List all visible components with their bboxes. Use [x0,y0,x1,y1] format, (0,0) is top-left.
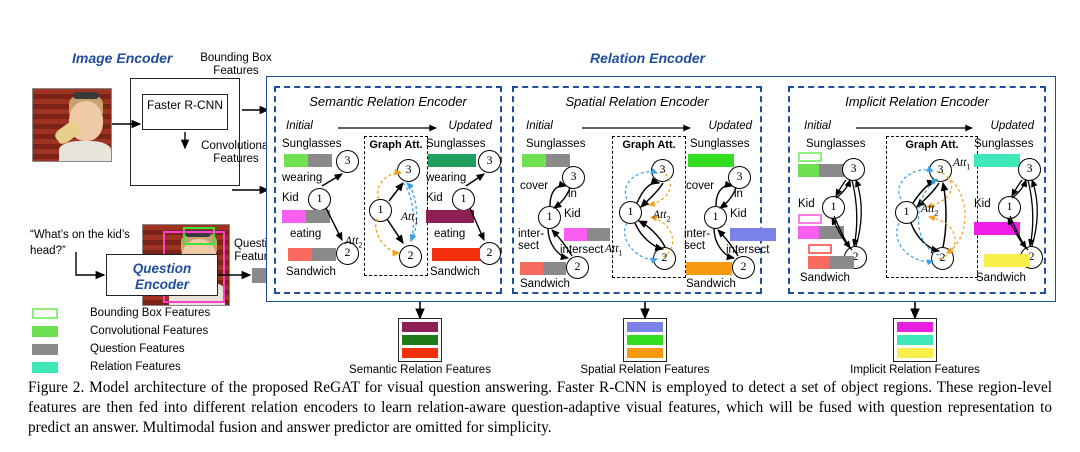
implicit-relation-encoder-panel: Implicit Relation Encoder Initial Update… [788,86,1046,294]
spatial-initial-edges [520,138,612,290]
implicit-output-bar-0 [897,322,933,332]
att2-label: Att2 [921,203,938,217]
semantic-initial-graph: Sunglasses 3 wearing Kid 1 eating 2 Sand… [282,138,366,288]
att1-label: Att1 [605,243,622,257]
implicit-initial-graph: Sunglasses 3 Kid 1 2 Sandwich [796,136,888,290]
implicit-initial-edges [796,136,888,290]
legend-label-bounding-box: Bounding Box Features [90,307,210,320]
bounding-box-features-label: Bounding Box Features [196,52,276,77]
att2-label: Att2 [653,209,670,223]
legend-item: Relation Features [32,360,210,375]
implicit-output-bar-2 [897,348,933,358]
spatial-output-bar-0 [627,322,663,332]
spatial-output-bar-2 [627,348,663,358]
legend-swatch-bounding-box [32,308,58,319]
semantic-relation-encoder-panel: Semantic Relation Encoder Initial Update… [274,86,502,294]
relation-encoder-title: Relation Encoder [590,50,705,66]
implicit-updated-edges [972,136,1048,290]
legend-swatch-convolutional [32,326,58,337]
question-encoder-box: Question Encoder [106,254,218,296]
legend-swatch-relation [32,362,58,373]
figure-caption: Figure 2. Model architecture of the prop… [28,378,1052,439]
implicit-output-block [893,318,937,362]
semantic-att-edges [365,137,429,277]
semantic-updated-edges [426,138,504,288]
spatial-output-bar-1 [627,335,663,345]
legend-item: Question Features [32,342,210,357]
spatial-updated-graph: Sunglasses 3 cover in 1 Kid inter-sect i… [686,138,764,290]
implicit-output-label: Implicit Relation Features [838,364,992,377]
att1-label: Att1 [953,157,970,171]
implicit-updated-graph: Sunglasses 3 Kid 1 2 Sandwich [972,136,1048,290]
legend: Bounding Box Features Convolutional Feat… [32,306,210,375]
spatial-initial-graph: Sunglasses 3 cover in 1 Kid inter-sect i… [520,138,612,290]
question-encoder-title: Question Encoder [107,255,217,292]
legend-item: Bounding Box Features [32,306,210,321]
att1-label: Att1 [401,211,418,225]
legend-swatch-question [32,344,58,355]
legend-item: Convolutional Features [32,324,210,339]
implicit-output-bar-1 [897,335,933,345]
spatial-graph-att-box: Graph Att. 3 1 2 Att2 Att1 [612,136,686,278]
spatial-att-edges [613,137,687,279]
spatial-output-label: Spatial Relation Features [568,364,722,377]
semantic-output-bar-0 [402,322,438,332]
spatial-updated-edges [686,138,764,290]
semantic-graph-att-box: Graph Att. 3 1 2 Att1 Att2 [364,136,428,276]
semantic-output-bar-2 [402,348,438,358]
semantic-updated-graph: Sunglasses 3 wearing Kid 1 eating 2 Sand… [426,138,504,288]
implicit-graph-att-box: Graph Att. 3 1 2 Att1 Att2 [886,136,978,278]
figure-canvas: Image Encoder Faster R-CNN [0,0,1080,372]
semantic-output-block [398,318,442,362]
semantic-initial-edges [282,138,366,288]
spatial-output-block [623,318,667,362]
semantic-output-label: Semantic Relation Features [340,364,500,377]
legend-label-question: Question Features [90,343,185,356]
spatial-relation-encoder-panel: Spatial Relation Encoder Initial Updated… [512,86,762,294]
semantic-output-bar-1 [402,335,438,345]
legend-label-relation: Relation Features [90,361,181,374]
att2-label: Att2 [345,235,362,249]
legend-label-convolutional: Convolutional Features [90,325,208,338]
